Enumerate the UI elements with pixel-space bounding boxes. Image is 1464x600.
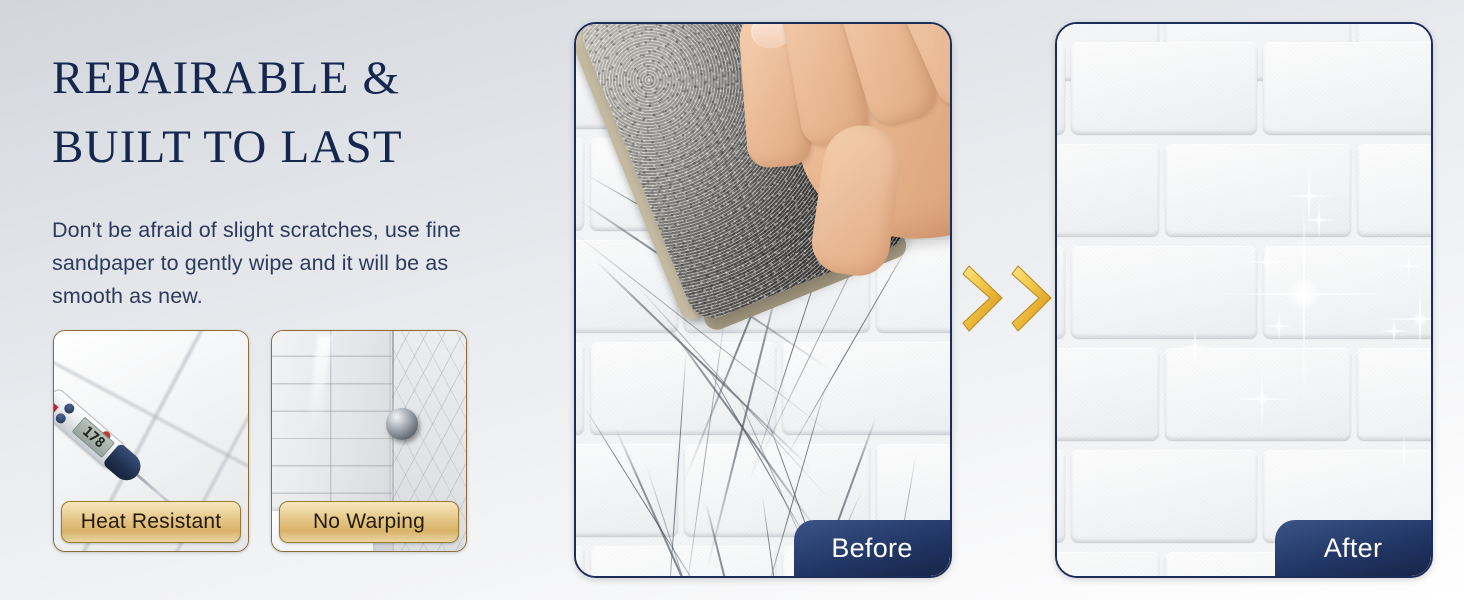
chevron-right-icon-2	[1011, 262, 1057, 336]
sparkle-overlay	[1057, 24, 1431, 576]
clean-tile-wall	[1057, 24, 1431, 576]
page-title: REPAIRABLE & BUILT TO LAST	[52, 44, 532, 182]
after-panel: After	[1055, 22, 1433, 578]
feature-card-label: No Warping	[279, 501, 459, 543]
body-copy: Don't be afraid of slight scratches, use…	[52, 214, 492, 313]
shower-knob-icon	[386, 408, 418, 440]
left-text-column: REPAIRABLE & BUILT TO LAST Don't be afra…	[52, 44, 532, 313]
promo-banner: REPAIRABLE & BUILT TO LAST Don't be afra…	[0, 0, 1464, 600]
before-panel: Before	[574, 22, 952, 578]
feature-card-label: Heat Resistant	[61, 501, 241, 543]
feature-card-no-warping: No Warping	[271, 330, 467, 552]
headline-line-1: REPAIRABLE &	[52, 52, 400, 104]
scratched-tile-wall	[576, 24, 950, 576]
feature-card-list: 178 Heat Resistant No Warping	[53, 330, 467, 552]
headline-line-2: BUILT TO LAST	[52, 113, 532, 182]
before-badge: Before	[794, 520, 950, 576]
after-badge: After	[1275, 520, 1431, 576]
double-chevron-right-icon	[962, 262, 1057, 336]
feature-card-heat-resistant: 178 Heat Resistant	[53, 330, 249, 552]
chevron-right-icon-1	[962, 262, 1008, 336]
